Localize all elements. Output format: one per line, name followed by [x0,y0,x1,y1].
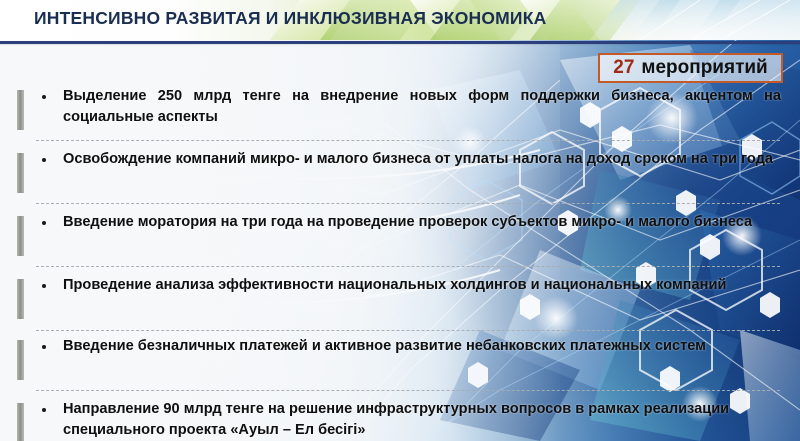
item-marker-bar [17,153,24,193]
list-separator [36,266,780,267]
item-marker-bar [17,90,24,130]
item-marker-bar [17,340,24,380]
measure-text: Выделение 250 млрд тенге на внедрение но… [63,86,781,127]
page-title: ИНТЕНСИВНО РАЗВИТАЯ И ИНКЛЮЗИВНАЯ ЭКОНОМ… [34,8,546,29]
badge-label: мероприятий [641,57,767,79]
item-marker-bar [17,279,24,319]
item-marker-bar [17,216,24,256]
slide-header: ИНТЕНСИВНО РАЗВИТАЯ И ИНКЛЮЗИВНАЯ ЭКОНОМ… [0,0,800,40]
bullet-icon [42,221,46,225]
list-separator [36,203,780,204]
status-badge: 27 мероприятий [598,53,783,83]
measure-text: Проведение анализа эффективности национа… [63,275,781,296]
measure-text: Введение безналичных платежей и активное… [63,336,781,357]
bullet-icon [42,158,46,162]
slide-canvas: ИНТЕНСИВНО РАЗВИТАЯ И ИНКЛЮЗИВНАЯ ЭКОНОМ… [0,0,800,441]
measure-text: Направление 90 млрд тенге на решение инф… [63,399,781,440]
measures-list: Выделение 250 млрд тенге на внедрение но… [0,86,800,441]
bullet-icon [42,95,46,99]
badge-count: 27 [613,57,634,79]
bullet-icon [42,284,46,288]
measure-text: Введение моратория на три года на провед… [63,212,781,233]
list-separator [36,390,780,391]
item-marker-bar [17,403,24,441]
bullet-icon [42,408,46,412]
list-separator [36,330,780,331]
header-rule-shadow [0,44,800,46]
list-separator [36,140,780,141]
measure-text: Освобождение компаний микро- и малого би… [63,149,781,170]
bullet-icon [42,345,46,349]
